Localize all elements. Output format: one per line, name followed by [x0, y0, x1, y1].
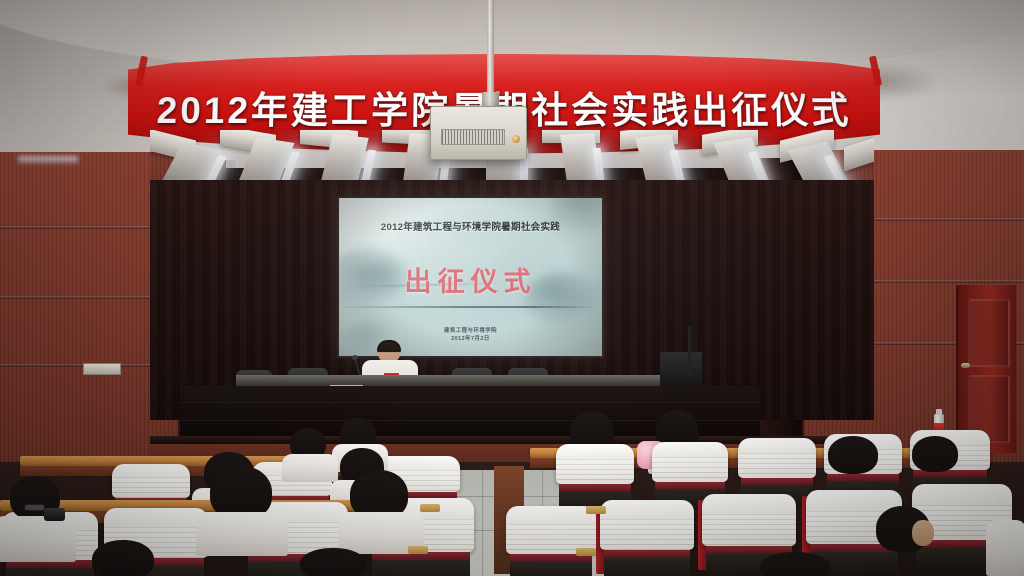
- seat-pleats: [702, 514, 796, 546]
- person-face: [912, 520, 934, 546]
- microphone-head: [352, 355, 358, 360]
- seat-armrest-4: [408, 546, 428, 554]
- person-shirt: [282, 454, 338, 482]
- seat-lower-back: [6, 568, 94, 576]
- eyeglasses: [24, 504, 45, 511]
- slide-title: 2012年建筑工程与环境学院暑期社会实践: [339, 219, 602, 233]
- seat-red-band: [741, 478, 813, 485]
- projector-light-glow: [18, 156, 78, 164]
- wall-plaque-left: [83, 363, 121, 375]
- person-head: [760, 552, 830, 576]
- seat-pleats: [600, 519, 694, 550]
- seat-cover: [506, 506, 596, 554]
- stage-skirt-seam-1: [180, 402, 760, 403]
- seat-cover: [738, 438, 816, 478]
- slide-footer-org: 建筑工程与环境学院: [339, 326, 602, 334]
- slide-footer-date: 2012年7月2日: [339, 334, 602, 342]
- seat-cover: [556, 444, 634, 484]
- seat-pleats: [738, 453, 816, 478]
- seat-pleats: [112, 477, 190, 498]
- person-head: [300, 548, 366, 576]
- seat-red-band: [604, 550, 690, 558]
- projection-screen-frame: 2012年建筑工程与环境学院暑期社会实践 出征仪式 建筑工程与环境学院 2012…: [337, 196, 604, 358]
- auditorium-photo: 2012年建工学院暑期社会实践出征仪式: [0, 0, 1024, 576]
- projector-indicator-led: [512, 135, 520, 143]
- projector-mount-pole: [487, 0, 494, 98]
- seat-cover: [702, 494, 796, 546]
- seat-cover: [112, 464, 190, 498]
- person-shirt: [986, 520, 1024, 576]
- seat-rA-r2[interactable]: [652, 442, 728, 500]
- seat-lower-back: [510, 562, 593, 576]
- seat-cover: [652, 442, 728, 482]
- ceiling-baffle-10: [844, 133, 874, 172]
- handheld-camera: [44, 508, 65, 521]
- seat-red-band: [655, 482, 725, 489]
- seat-pleats: [556, 459, 634, 484]
- seat-cover: [600, 500, 694, 550]
- slide-main-text: 出征仪式: [339, 260, 602, 299]
- seat-rB-r0[interactable]: [506, 506, 596, 576]
- projector-vent: [441, 129, 505, 145]
- stage-equipment-box: [660, 352, 702, 386]
- person-head: [912, 436, 958, 472]
- projection-screen: 2012年建筑工程与环境学院暑期社会实践 出征仪式 建筑工程与环境学院 2012…: [339, 198, 602, 356]
- seat-rA-r3[interactable]: [738, 438, 816, 496]
- seat-lower-back: [372, 560, 470, 576]
- seat-red-band: [559, 484, 631, 491]
- door-panel-upper: [968, 299, 1010, 367]
- speaker-stand-pole: [688, 326, 691, 376]
- seat-rB-r1[interactable]: [600, 500, 694, 576]
- person-head: [92, 540, 154, 576]
- ceiling-projector: [430, 106, 527, 160]
- seat-rA-r1[interactable]: [556, 444, 634, 502]
- seat-red-band: [827, 474, 899, 481]
- tile-line-v1: [482, 470, 483, 576]
- seat-armrest-1: [586, 506, 606, 514]
- seat-pleats: [652, 457, 728, 482]
- seat-armrest-2: [576, 548, 596, 556]
- door-handle[interactable]: [961, 363, 970, 368]
- seat-lower-back: [604, 558, 690, 576]
- seat-armrest-3: [420, 504, 440, 512]
- water-bottle-cap: [936, 409, 942, 415]
- person-shirt: [0, 516, 76, 562]
- person-shirt: [196, 512, 288, 556]
- person-head: [828, 436, 878, 474]
- side-door-right[interactable]: [956, 285, 1016, 453]
- slide-divider-rule: [345, 306, 595, 308]
